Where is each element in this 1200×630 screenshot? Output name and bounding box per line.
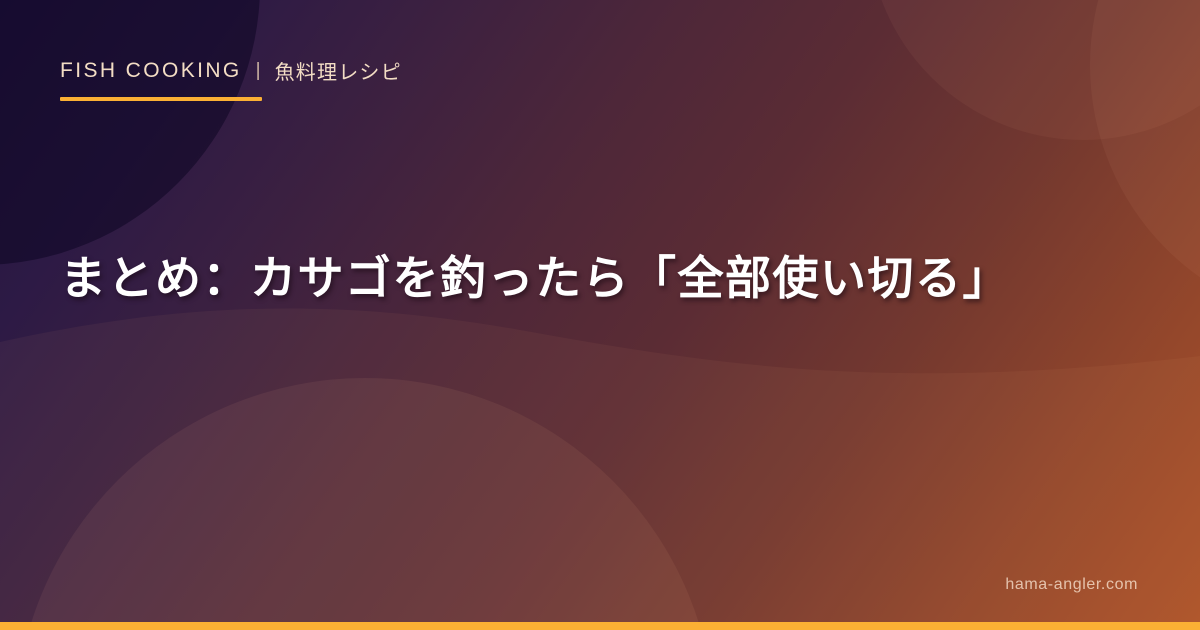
social-share-card: FISH COOKING | 魚料理レシピ まとめ：カサゴを釣ったら「全部使い切…: [0, 0, 1200, 630]
accent-underline: [60, 97, 262, 101]
kicker: FISH COOKING | 魚料理レシピ: [60, 56, 402, 85]
kicker-japanese-label: 魚料理レシピ: [275, 56, 402, 85]
decorative-circle-bottom-left: [15, 378, 715, 630]
decorative-circle-top-right-small: [868, 0, 1200, 140]
site-domain-label: hama-angler.com: [1005, 576, 1138, 594]
kicker-english-label: FISH COOKING: [60, 59, 242, 83]
bottom-accent-bar: [0, 622, 1200, 630]
page-title: まとめ：カサゴを釣ったら「全部使い切る」: [60, 248, 1150, 309]
decorative-circle-top-left: [0, 0, 260, 265]
kicker-separator: |: [256, 60, 261, 82]
